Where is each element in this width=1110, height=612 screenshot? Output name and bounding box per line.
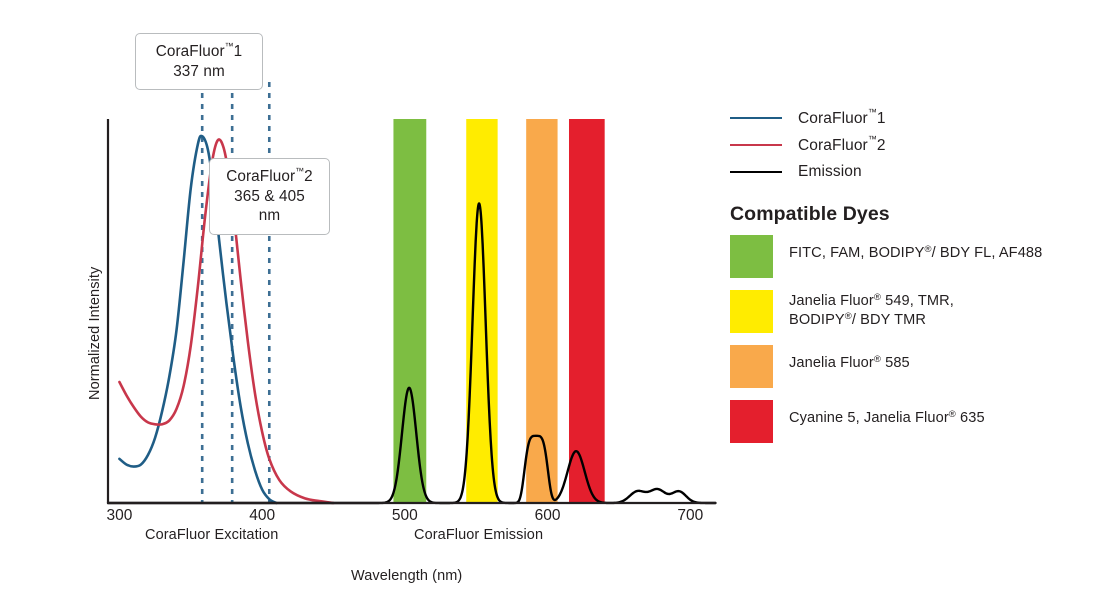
x-tick-label-700: 700 xyxy=(660,507,720,525)
legend-swatch-corafluor-2 xyxy=(730,144,782,146)
callout-2-line2: 365 & 405 nm xyxy=(234,188,305,225)
dye-row-orange: Janelia Fluor® 585 xyxy=(730,345,1100,391)
orange-band xyxy=(526,119,557,503)
dye-row-red: Cyanine 5, Janelia Fluor® 635 xyxy=(730,400,1100,446)
callout-1-line2: 337 nm xyxy=(173,63,225,80)
excitation-region-caption: CoraFluor Excitation xyxy=(145,527,278,543)
callout-1-line1: CoraFluor™1 xyxy=(156,43,243,60)
legend-swatch-corafluor-1 xyxy=(730,117,782,119)
red-band xyxy=(569,119,605,503)
dye-row-yellow: Janelia Fluor® 549, TMR, BODIPY®/ BDY TM… xyxy=(730,290,1100,336)
legend-label-emission: Emission xyxy=(798,163,862,181)
legend-swatch-emission xyxy=(730,171,782,173)
callout-corafluor-2: CoraFluor™2 365 & 405 nm xyxy=(209,158,330,235)
dye-swatch-orange xyxy=(730,345,773,388)
dye-label-orange: Janelia Fluor® 585 xyxy=(789,345,910,373)
callout-corafluor-1: CoraFluor™1 337 nm xyxy=(135,33,263,90)
legend-item-corafluor-2: CoraFluor™2 xyxy=(730,131,1100,158)
excitation-marker-layer xyxy=(202,82,269,503)
y-axis-label: Normalized Intensity xyxy=(87,267,103,400)
x-tick-label-400: 400 xyxy=(232,507,292,525)
legend-item-corafluor-1: CoraFluor™1 xyxy=(730,104,1100,131)
dye-band-layer xyxy=(393,119,604,503)
dye-swatch-green xyxy=(730,235,773,278)
x-tick-label-500: 500 xyxy=(375,507,435,525)
dye-swatch-red xyxy=(730,400,773,443)
dye-label-yellow: Janelia Fluor® 549, TMR, BODIPY®/ BDY TM… xyxy=(789,290,954,331)
emission-region-caption: CoraFluor Emission xyxy=(414,527,543,543)
compatible-dyes-title: Compatible Dyes xyxy=(730,203,1100,226)
x-axis-label: Wavelength (nm) xyxy=(351,568,462,584)
x-tick-label-600: 600 xyxy=(518,507,578,525)
dye-swatch-yellow xyxy=(730,290,773,333)
green-band xyxy=(393,119,426,503)
legend-and-dyes-panel: CoraFluor™1 CoraFluor™2 Emission Compati… xyxy=(730,104,1100,446)
dye-label-red: Cyanine 5, Janelia Fluor® 635 xyxy=(789,400,985,428)
dye-label-green: FITC, FAM, BODIPY®/ BDY FL, AF488 xyxy=(789,235,1042,263)
yellow-band xyxy=(466,119,497,503)
legend-label-corafluor-1: CoraFluor™1 xyxy=(798,107,886,128)
dye-row-green: FITC, FAM, BODIPY®/ BDY FL, AF488 xyxy=(730,235,1100,281)
x-tick-label-300: 300 xyxy=(89,507,149,525)
callout-2-line1: CoraFluor™2 xyxy=(226,168,313,185)
legend-label-corafluor-2: CoraFluor™2 xyxy=(798,134,886,155)
legend-item-emission: Emission xyxy=(730,158,1100,185)
